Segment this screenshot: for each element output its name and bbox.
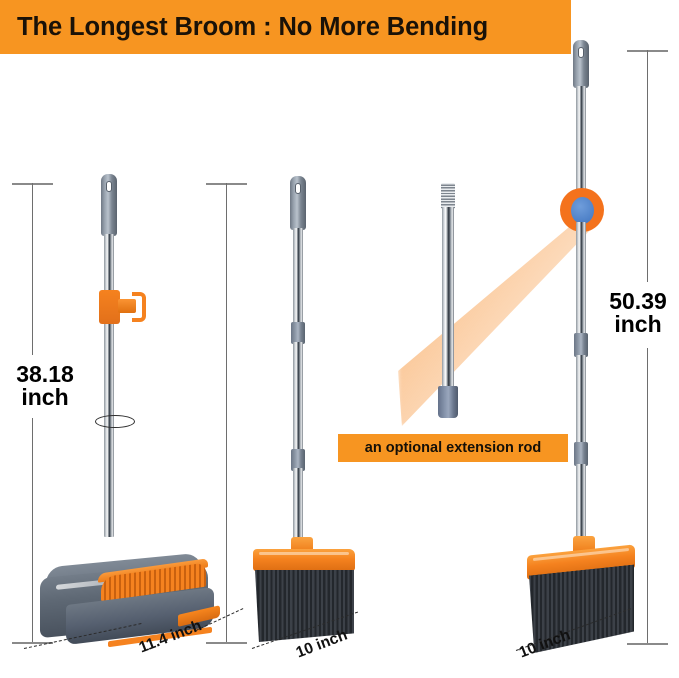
height-unit-left: inch <box>3 386 87 409</box>
broom3-head <box>527 538 635 646</box>
height-unit-right: inch <box>598 313 678 336</box>
extension-rod-callout-label: an optional extension rod <box>365 440 541 456</box>
extension-rod <box>437 183 459 423</box>
dimension-line-mid <box>226 183 227 642</box>
broom2-grip <box>290 176 306 230</box>
broom1-grip <box>101 174 117 236</box>
dimension-line-right-upper <box>647 50 648 282</box>
extension-rod-callout: an optional extension rod <box>338 434 568 462</box>
extension-joint-collar <box>571 197 594 224</box>
dimension-line-left-upper <box>32 183 33 355</box>
height-label-left: 38.18 inch <box>3 363 87 410</box>
broom2-pole-upper <box>293 228 303 326</box>
page-title: The Longest Broom : No More Bending <box>0 13 488 42</box>
extension-rod-end-cap <box>438 386 458 418</box>
height-value-right: 50.39 <box>609 288 667 314</box>
broom3-pole-upper <box>576 222 586 336</box>
dimension-line-right-lower <box>647 348 648 644</box>
extension-rod-thread <box>441 183 455 209</box>
broom2-pole-mid <box>293 342 303 452</box>
hang-hole-icon <box>295 183 301 194</box>
height-value-left: 38.18 <box>16 361 74 387</box>
height-label-right: 50.39 inch <box>598 290 678 337</box>
hang-hole-icon <box>578 47 584 58</box>
broom1-rotation-indicator <box>95 415 135 428</box>
broom3-pole-mid <box>576 355 586 445</box>
broom3-grip <box>573 40 589 88</box>
broom1-pole-lower <box>104 322 114 537</box>
broom3-joint-1 <box>574 333 588 357</box>
extension-rod-shaft <box>442 207 454 393</box>
hang-hole-icon <box>106 181 112 192</box>
holder-highlight <box>259 552 349 555</box>
broom1-clip-body <box>99 290 120 324</box>
dimension-line-left-lower <box>32 418 33 643</box>
header-banner: The Longest Broom : No More Bending <box>0 0 571 54</box>
broom2-head-holder <box>253 549 355 571</box>
broom1-clip-hook <box>132 292 146 322</box>
broom2-joint-1 <box>291 322 305 344</box>
broom1-pole-upper <box>104 234 114 298</box>
broom3-joint-2 <box>574 442 588 466</box>
broom3-pole-top <box>576 86 586 196</box>
holder-highlight <box>533 548 628 561</box>
